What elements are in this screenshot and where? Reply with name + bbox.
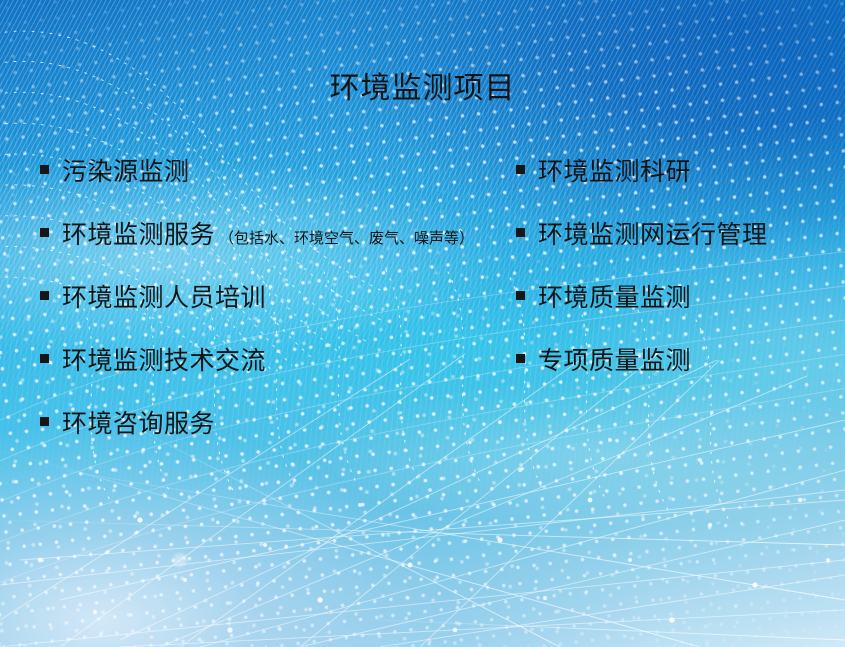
bullet-item: 环境监测服务 （包括水、环境空气、废气、噪声等） <box>40 221 510 284</box>
slide-content: 环境监测项目 污染源监测 环境监测服务 （包括水、环境空气、废气、噪声等） 环境… <box>0 0 845 647</box>
bullet-square-icon <box>40 291 49 300</box>
bullet-item: 环境咨询服务 <box>40 410 510 473</box>
bullet-label: 环境监测人员培训 <box>62 284 266 312</box>
bullet-label: 环境咨询服务 <box>62 410 215 438</box>
bullet-square-icon <box>516 354 525 363</box>
bullet-square-icon <box>40 354 49 363</box>
bullet-square-icon <box>40 417 49 426</box>
bullet-label: 专项质量监测 <box>538 347 691 375</box>
bullet-item: 环境监测网运行管理 <box>516 221 841 284</box>
bullet-square-icon <box>516 165 525 174</box>
presentation-slide: 环境监测项目 污染源监测 环境监测服务 （包括水、环境空气、废气、噪声等） 环境… <box>0 0 845 647</box>
bullet-label: 环境监测技术交流 <box>62 347 266 375</box>
bullet-item: 环境监测人员培训 <box>40 284 510 347</box>
bullet-label: 环境监测服务 <box>62 221 215 249</box>
slide-title: 环境监测项目 <box>0 72 845 107</box>
bullet-item: 环境监测技术交流 <box>40 347 510 410</box>
bullet-label: 环境监测科研 <box>538 158 691 186</box>
bullet-square-icon <box>40 165 49 174</box>
bullet-item: 污染源监测 <box>40 158 510 221</box>
bullet-item: 环境监测科研 <box>516 158 841 221</box>
bullet-label: 污染源监测 <box>62 158 190 186</box>
bullet-square-icon <box>516 228 525 237</box>
bullet-column-right: 环境监测科研 环境监测网运行管理 环境质量监测 专项质量监测 <box>516 158 841 410</box>
bullet-square-icon <box>516 291 525 300</box>
bullet-item: 环境质量监测 <box>516 284 841 347</box>
bullet-label: 环境监测网运行管理 <box>538 221 768 249</box>
bullet-note: （包括水、环境空气、废气、噪声等） <box>219 227 474 248</box>
bullet-square-icon <box>40 228 49 237</box>
bullet-column-left: 污染源监测 环境监测服务 （包括水、环境空气、废气、噪声等） 环境监测人员培训 … <box>40 158 510 473</box>
bullet-label: 环境质量监测 <box>538 284 691 312</box>
bullet-item: 专项质量监测 <box>516 347 841 410</box>
